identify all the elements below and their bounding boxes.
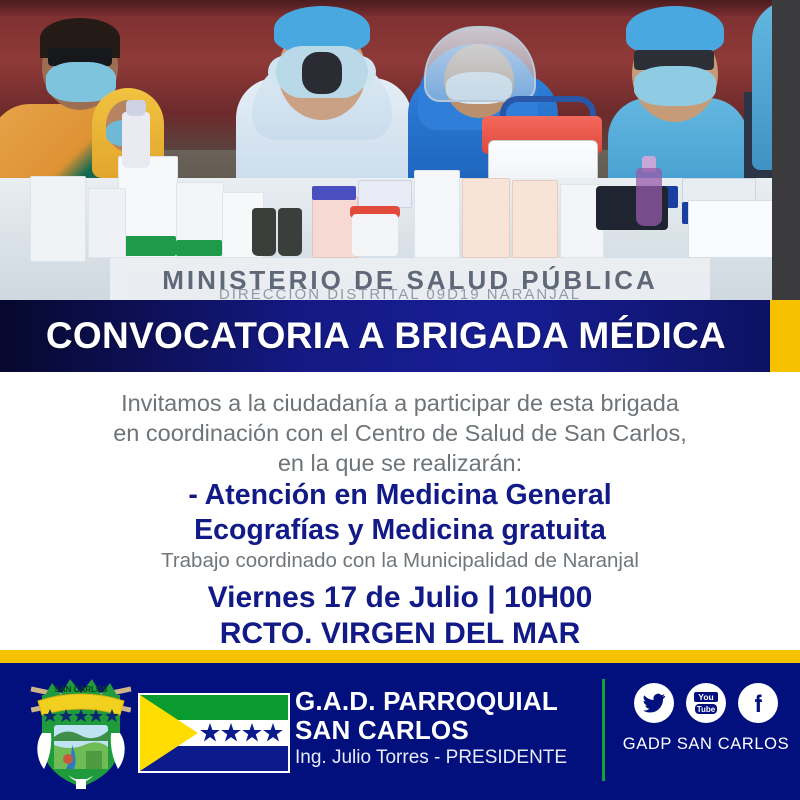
social-block: You Tube GADP SAN CARLOS	[622, 683, 790, 754]
surgical-cap-icon	[626, 6, 724, 54]
org-president: Ing. Julio Torres - PRESIDENTE	[295, 745, 595, 770]
poster-canvas: MINISTERIO DE SALUD PÚBLICA DIRECCIÓN DI…	[0, 0, 800, 800]
title-banner: CONVOCATORIA A BRIGADA MÉDICA	[0, 300, 800, 372]
org-name-line-1: G.A.D. PARROQUIAL	[295, 687, 595, 716]
header-photo: MINISTERIO DE SALUD PÚBLICA DIRECCIÓN DI…	[0, 0, 800, 302]
intro-text: Invitamos a la ciudadanía a participar d…	[40, 388, 760, 478]
service-item-1: - Atención en Medicina General	[40, 478, 760, 513]
svg-text:You: You	[698, 692, 713, 702]
photo-right-edge	[772, 0, 800, 302]
coat-of-arms-icon: SAN CARLOS	[28, 671, 134, 791]
poster-title: CONVOCATORIA A BRIGADA MÉDICA	[0, 300, 772, 372]
intro-line-2: en coordinación con el Centro de Salud d…	[40, 418, 760, 448]
poster-body: Invitamos a la ciudadanía a participar d…	[0, 372, 800, 650]
face-mask-icon	[634, 66, 716, 106]
org-name-line-2: SAN CARLOS	[295, 716, 595, 745]
svg-text:SAN CARLOS: SAN CARLOS	[55, 685, 109, 694]
event-venue: RCTO. VIRGEN DEL MAR	[40, 616, 760, 652]
parish-flag-icon	[138, 693, 290, 773]
intro-line-3: en la que se realizarán:	[40, 448, 760, 478]
footer-divider	[602, 679, 605, 781]
organization-block: G.A.D. PARROQUIAL SAN CARLOS Ing. Julio …	[295, 687, 595, 770]
yellow-divider	[0, 650, 800, 663]
sanitizer-bottle	[636, 168, 662, 226]
twitter-icon[interactable]	[634, 683, 674, 723]
facebook-icon[interactable]	[738, 683, 778, 723]
svg-text:Tube: Tube	[697, 705, 716, 714]
title-banner-accent-bar	[770, 300, 800, 372]
event-details: Viernes 17 de Julio | 10H00 RCTO. VIRGEN…	[40, 580, 760, 652]
service-item-2: Ecografías y Medicina gratuita	[40, 513, 760, 548]
event-datetime: Viernes 17 de Julio | 10H00	[40, 580, 760, 616]
youtube-icon[interactable]: You Tube	[686, 683, 726, 723]
poster-footer: SAN CARLOS	[0, 663, 800, 800]
social-handle: GADP SAN CARLOS	[622, 735, 790, 754]
intro-line-1: Invitamos a la ciudadanía a participar d…	[40, 388, 760, 418]
flag-stars	[200, 721, 286, 745]
services-list: - Atención en Medicina General Ecografía…	[40, 478, 760, 548]
coordination-note: Trabajo coordinado con la Municipalidad …	[40, 548, 760, 574]
